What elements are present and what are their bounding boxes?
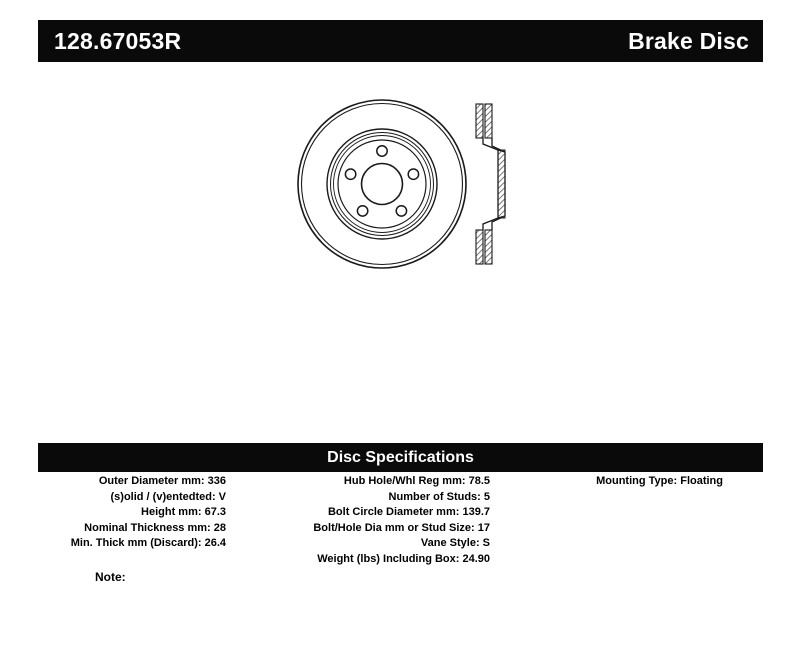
technical-drawing-area	[38, 70, 763, 430]
note-row: Note:	[95, 570, 130, 584]
spec-row: (s)olid / (v)entedted: V	[38, 490, 226, 506]
spec-row: Mounting Type: Floating	[508, 474, 723, 490]
disc-specifications-title: Disc Specifications	[327, 450, 474, 466]
spec-row: Hub Hole/Whl Reg mm: 78.5	[234, 474, 490, 490]
spec-row: Bolt Circle Diameter mm: 139.7	[234, 505, 490, 521]
product-type-label: Brake Disc	[628, 30, 749, 53]
spec-row: Nominal Thickness mm: 28	[38, 521, 226, 537]
title-bar: 128.67053R Brake Disc	[38, 20, 763, 62]
spec-row: Number of Studs: 5	[234, 490, 490, 506]
spec-column-middle: Hub Hole/Whl Reg mm: 78.5 Number of Stud…	[234, 474, 490, 567]
brake-rotor-cross-section-view	[458, 98, 538, 270]
part-number: 128.67053R	[54, 30, 181, 53]
spec-column-right: Mounting Type: Floating	[508, 474, 723, 490]
spec-row: Weight (lbs) Including Box: 24.90	[234, 552, 490, 568]
spec-row: Min. Thick mm (Discard): 26.4	[38, 536, 226, 552]
spec-row: Bolt/Hole Dia mm or Stud Size: 17	[234, 521, 490, 537]
spec-row: Vane Style: S	[234, 536, 490, 552]
spec-row: Height mm: 67.3	[38, 505, 226, 521]
brake-rotor-face-view	[296, 98, 468, 270]
spec-column-left: Outer Diameter mm: 336 (s)olid / (v)ente…	[38, 474, 226, 552]
specifications-table: Outer Diameter mm: 336 (s)olid / (v)ente…	[38, 474, 763, 584]
note-label: Note:	[95, 570, 126, 584]
disc-specifications-bar: Disc Specifications	[38, 443, 763, 472]
spec-row: Outer Diameter mm: 336	[38, 474, 226, 490]
